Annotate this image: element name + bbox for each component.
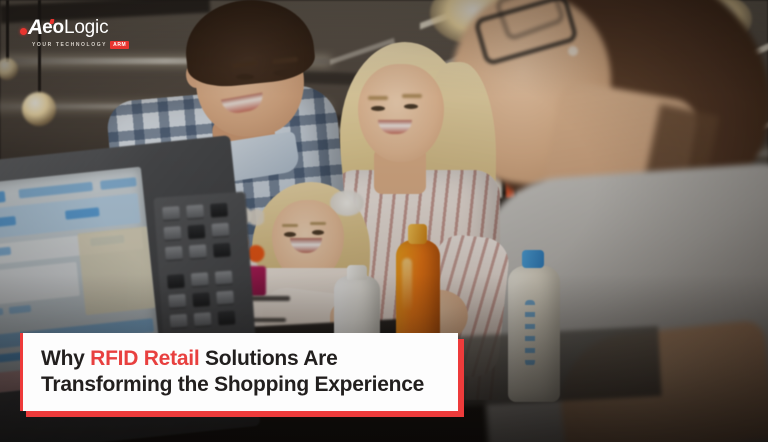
title-text-post: Solutions Are — [199, 347, 337, 370]
logo-tagline: Your Technology Arm — [32, 41, 129, 49]
logo-tagline-text: Your Technology — [32, 42, 107, 48]
child-eyebrow — [310, 222, 326, 225]
logo-letters-logic: Logic — [64, 18, 108, 37]
aeologic-logo[interactable]: A eo Logic Your Technology Arm — [20, 17, 129, 49]
logo-letter-a: A — [28, 17, 42, 38]
blog-hero-banner: A eo Logic Your Technology Arm Why RFID … — [0, 0, 768, 442]
title-banner-card: Why RFID Retail Solutions Are Transformi… — [20, 333, 458, 411]
logo-dot-icon — [20, 28, 27, 35]
child-eye — [312, 230, 324, 235]
title-text-pre: Why — [41, 347, 90, 370]
title-line-2: Transforming the Shopping Experience — [41, 372, 442, 398]
logo-tagline-badge: Arm — [110, 41, 129, 49]
child-eye — [284, 232, 296, 237]
title-highlight-rfid-retail: RFID Retail — [90, 347, 199, 370]
bottle-label — [525, 300, 535, 366]
title-banner: Why RFID Retail Solutions Are Transformi… — [20, 333, 458, 411]
logo-wordmark: A eo Logic — [20, 17, 108, 38]
title-line-1: Why RFID Retail Solutions Are — [41, 346, 442, 372]
child-eyebrow — [282, 224, 298, 227]
